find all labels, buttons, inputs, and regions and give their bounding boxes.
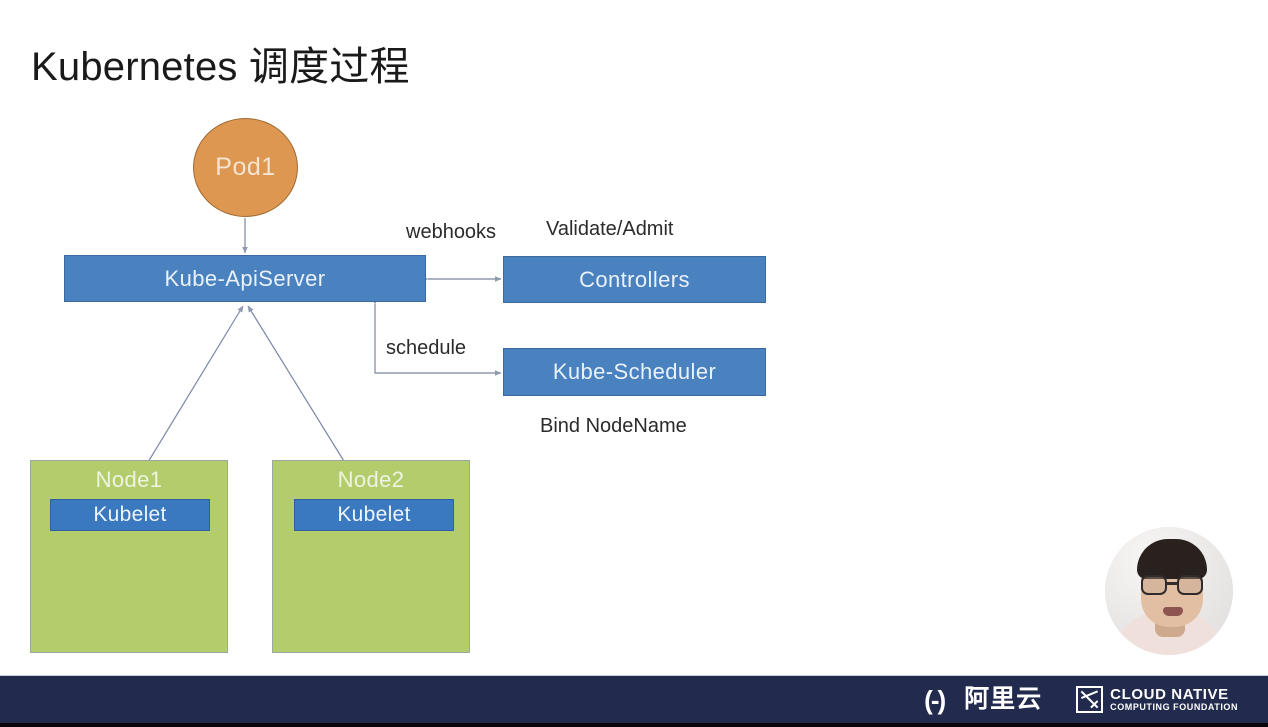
controllers-label: Controllers xyxy=(579,267,690,293)
cncf-mark-icon xyxy=(1076,686,1103,713)
node2-box[interactable]: Node2 Kubelet xyxy=(272,460,470,653)
schedule-label: schedule xyxy=(386,337,466,360)
cncf-line2: COMPUTING FOUNDATION xyxy=(1110,703,1238,712)
node1-kubelet-label: Kubelet xyxy=(93,503,166,527)
node1-label: Node1 xyxy=(31,467,227,493)
architecture-diagram: Pod1 Kube-ApiServer Controllers Kube-Sch… xyxy=(0,0,1268,675)
kube-scheduler-label: Kube-Scheduler xyxy=(553,359,716,385)
footer-bottom-strip xyxy=(0,723,1268,727)
kube-apiserver-label: Kube-ApiServer xyxy=(165,266,326,292)
controllers-box[interactable]: Controllers xyxy=(503,256,766,303)
cncf-wordmark: CLOUD NATIVE COMPUTING FOUNDATION xyxy=(1110,687,1238,712)
footer-bar: (-) 阿里云 CLOUD NATIVE COMPUTING FOUNDATIO… xyxy=(0,675,1268,727)
node1-box[interactable]: Node1 Kubelet xyxy=(30,460,228,653)
node2-label: Node2 xyxy=(273,467,469,493)
pod1-node[interactable]: Pod1 xyxy=(193,118,298,217)
node2-kubelet-box[interactable]: Kubelet xyxy=(294,499,454,531)
node2-kubelet-label: Kubelet xyxy=(337,503,410,527)
slide-canvas: Kubernetes 调度过程 xyxy=(0,0,1268,727)
alibaba-cloud-logo: (-) 阿里云 xyxy=(911,687,1042,713)
glasses-icon xyxy=(1141,575,1205,595)
node1-kubelet-box[interactable]: Kubelet xyxy=(50,499,210,531)
alibaba-cloud-name: 阿里云 xyxy=(964,687,1042,712)
glasses-left-lens xyxy=(1141,575,1167,595)
pod1-label: Pod1 xyxy=(215,153,275,182)
presenter-mouth xyxy=(1163,607,1183,616)
cncf-logo: CLOUD NATIVE COMPUTING FOUNDATION xyxy=(1076,686,1238,713)
cncf-line1: CLOUD NATIVE xyxy=(1110,687,1238,703)
kube-apiserver-box[interactable]: Kube-ApiServer xyxy=(64,255,426,302)
footer-logos: (-) 阿里云 CLOUD NATIVE COMPUTING FOUNDATIO… xyxy=(911,676,1238,723)
webhooks-label: webhooks xyxy=(406,221,496,244)
bind-nodename-label: Bind NodeName xyxy=(540,415,687,438)
alibaba-cloud-mark-icon: (-) xyxy=(911,687,957,713)
kube-scheduler-box[interactable]: Kube-Scheduler xyxy=(503,348,766,396)
validate-admit-label: Validate/Admit xyxy=(546,218,673,241)
glasses-right-lens xyxy=(1177,575,1203,595)
presenter-webcam xyxy=(1105,527,1233,655)
